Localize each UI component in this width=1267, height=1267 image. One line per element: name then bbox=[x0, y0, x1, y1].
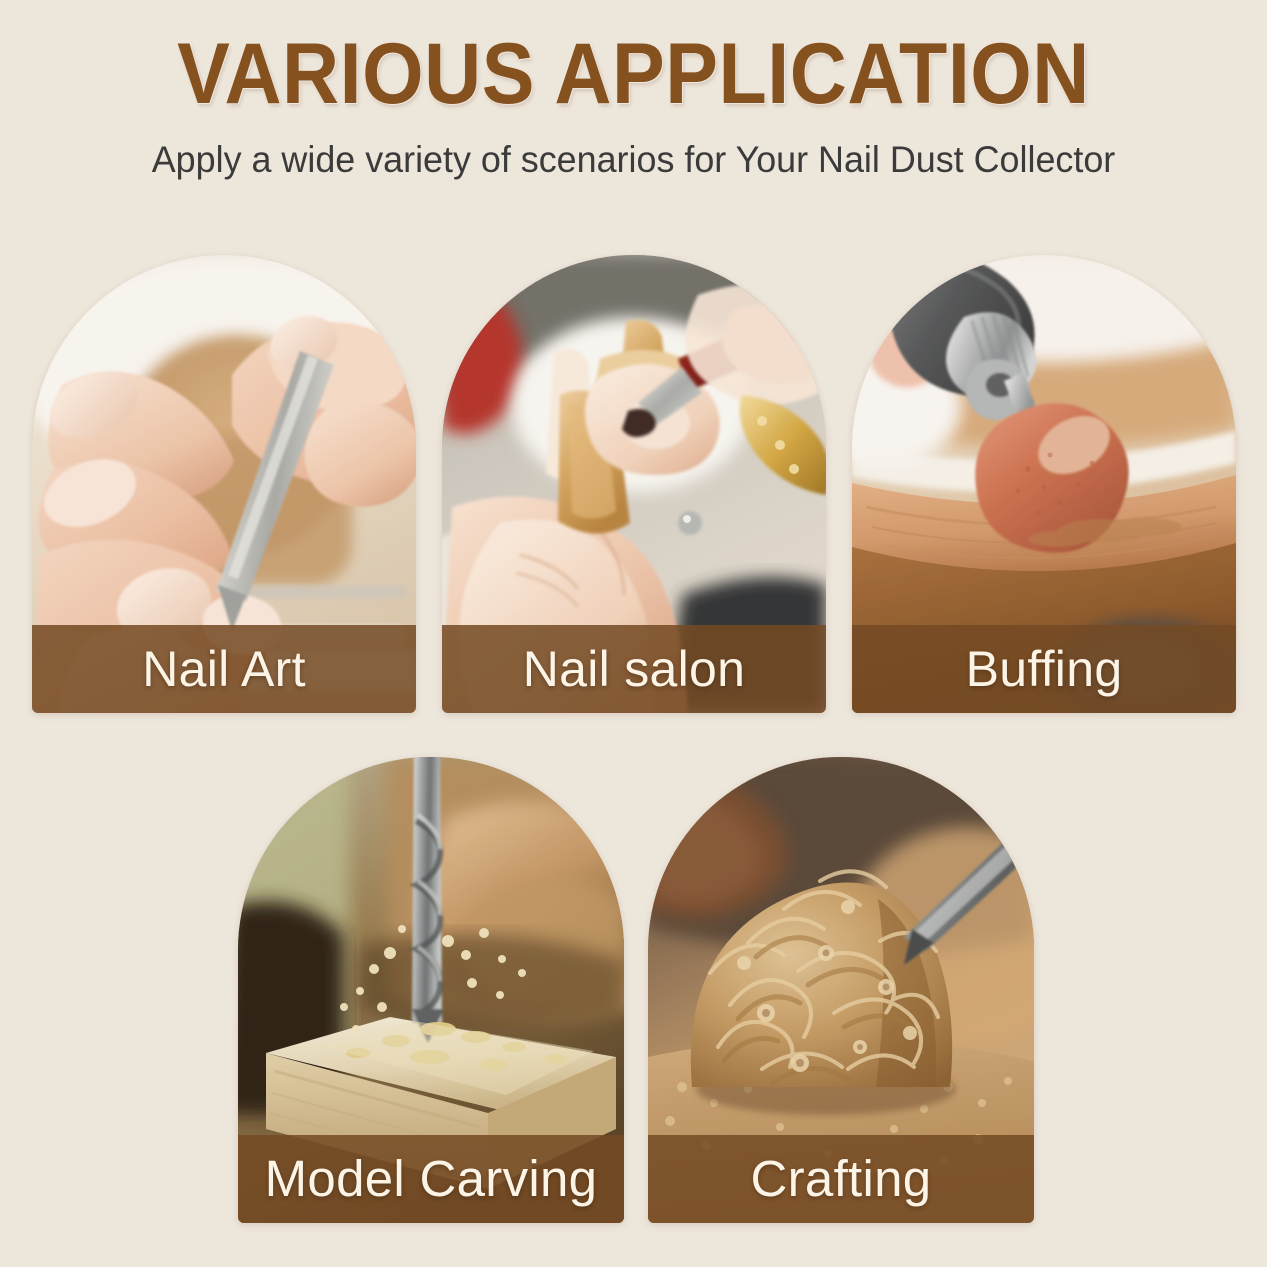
page-header: VARIOUS APPLICATION Apply a wide variety… bbox=[0, 0, 1267, 184]
card-label-text: Nail salon bbox=[523, 642, 746, 696]
application-card-buffing[interactable]: Buffing bbox=[852, 255, 1236, 713]
card-label-bar: Nail Art bbox=[32, 625, 416, 713]
application-card-model-carving[interactable]: Model Carving bbox=[238, 757, 624, 1223]
application-card-nail-salon[interactable]: Nail salon bbox=[442, 255, 826, 713]
card-label-bar: Buffing bbox=[852, 625, 1236, 713]
card-label-bar: Model Carving bbox=[238, 1135, 624, 1223]
card-label-text: Buffing bbox=[966, 642, 1123, 696]
card-label-text: Nail Art bbox=[142, 642, 306, 696]
card-label-bar: Nail salon bbox=[442, 625, 826, 713]
page-title: VARIOUS APPLICATION bbox=[51, 26, 1217, 122]
card-label-bar: Crafting bbox=[648, 1135, 1034, 1223]
card-label-text: Crafting bbox=[751, 1152, 932, 1206]
page-subtitle: Apply a wide variety of scenarios for Yo… bbox=[19, 136, 1248, 184]
application-card-crafting[interactable]: Crafting bbox=[648, 757, 1034, 1223]
application-card-nail-art[interactable]: Nail Art bbox=[32, 255, 416, 713]
card-label-text: Model Carving bbox=[265, 1152, 598, 1206]
application-cards-row-bottom: Model Carving bbox=[238, 757, 1034, 1223]
application-cards-row-top: Nail Art bbox=[32, 255, 1236, 713]
